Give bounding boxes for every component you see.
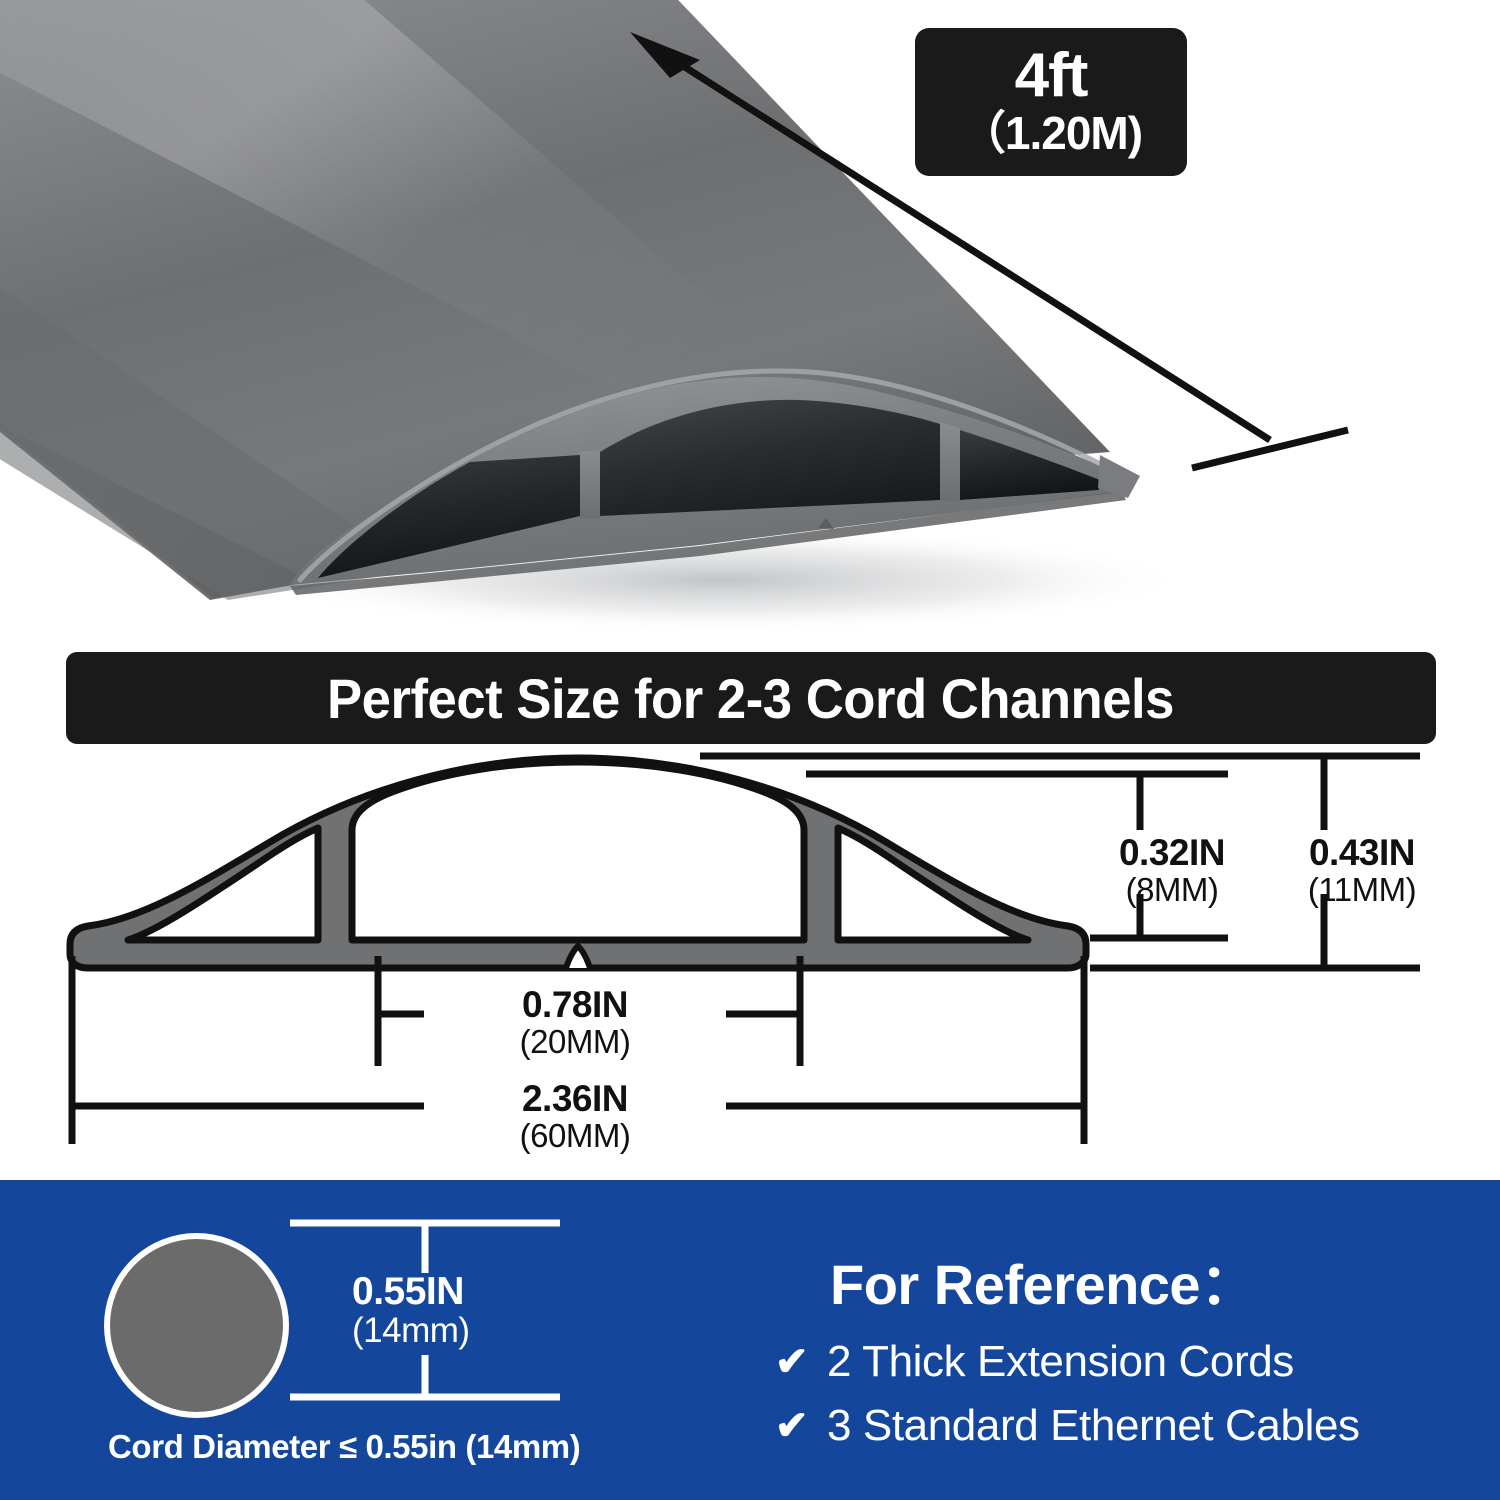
check-icon: ✔ [775,1406,827,1446]
dimension-center-width-imperial: 0.78IN [430,986,720,1024]
dimension-outer-height-imperial: 0.43IN [1262,834,1462,872]
dimension-tick [1192,430,1348,468]
channel-center-void [352,762,804,940]
dimension-inner-height-imperial: 0.32IN [1082,834,1262,872]
cord-diameter-label: 0.55IN (14mm) [352,1272,470,1350]
cord-diameter-imperial: 0.55IN [352,1272,470,1312]
reference-list: ✔ 2 Thick Extension Cords ✔ 3 Standard E… [775,1337,1475,1465]
dimension-label-outer-height: 0.43IN (11MM) [1262,834,1462,909]
cord-diameter-metric: (14mm) [352,1312,470,1350]
headline-text: Perfect Size for 2-3 Cord Channels [328,666,1175,731]
cross-section-diagram: 0.32IN (8MM) 0.43IN (11MM) 0.78IN (20MM)… [0,744,1500,1180]
rib-right [940,422,960,502]
cord-cover-3d-illustration [0,0,1500,640]
dimension-inner-height-metric: (8MM) [1082,872,1262,908]
reference-title: For Reference： [830,1240,1256,1321]
cross-section-svg [0,744,1500,1180]
product-infographic: 4ft （1.20M) Perfect Size for 2-3 Cord Ch… [0,0,1500,1500]
reference-item-label: 3 Standard Ethernet Cables [827,1401,1360,1451]
dimension-total-width-metric: (60MM) [430,1118,720,1154]
list-item: ✔ 3 Standard Ethernet Cables [775,1401,1475,1451]
length-badge-metric: （1.20M) [960,109,1142,157]
headline-banner: Perfect Size for 2-3 Cord Channels [66,652,1436,744]
length-badge: 4ft （1.20M) [915,28,1187,176]
dimension-total-width-imperial: 2.36IN [430,1080,720,1118]
rib-left [580,450,600,519]
reference-item-label: 2 Thick Extension Cords [827,1337,1294,1387]
cord-diameter-caption: Cord Diameter ≤ 0.55in (14mm) [108,1428,580,1466]
hero-product-photo: 4ft （1.20M) [0,0,1500,640]
list-item: ✔ 2 Thick Extension Cords [775,1337,1475,1387]
dimension-label-inner-height: 0.32IN (8MM) [1082,834,1262,909]
check-icon: ✔ [775,1342,827,1382]
dimension-label-total-width: 2.36IN (60MM) [430,1080,720,1155]
dimension-center-width-metric: (20MM) [430,1024,720,1060]
length-badge-imperial: 4ft [1015,46,1088,107]
dimension-label-center-width: 0.78IN (20MM) [430,986,720,1061]
cord-cross-section-circle [104,1233,289,1418]
dimension-outer-height-metric: (11MM) [1262,872,1462,908]
